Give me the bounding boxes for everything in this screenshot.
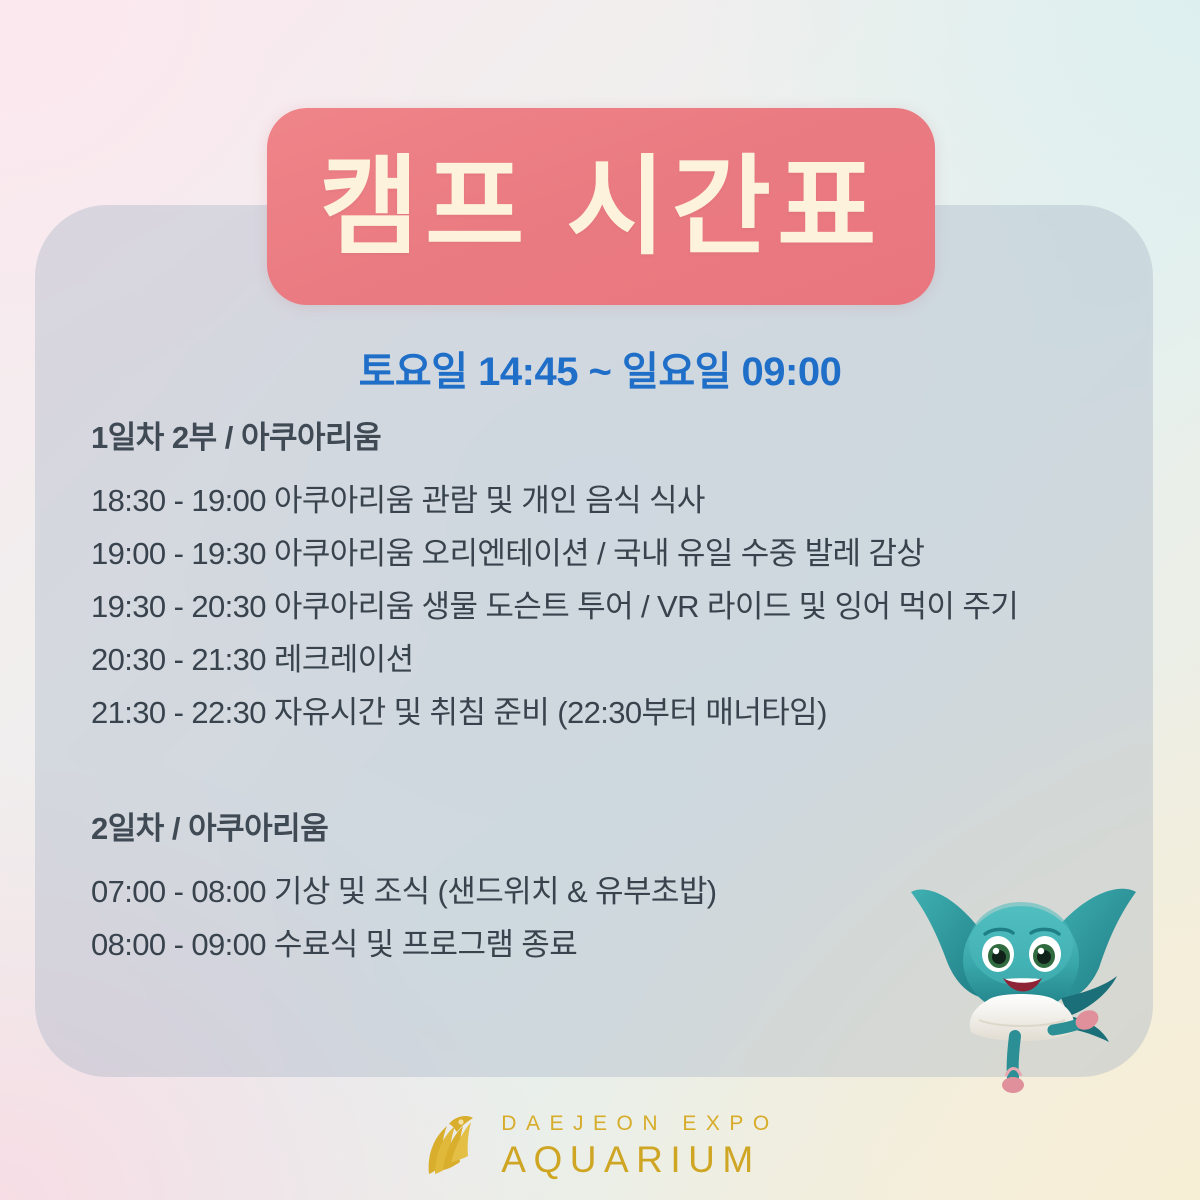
logo-wordmark: DAEJEON EXPO AQUARIUM (501, 1113, 778, 1178)
footer-logo: DAEJEON EXPO AQUARIUM (0, 1112, 1200, 1178)
schedule-time-range: 토요일 14:45 ~ 일요일 09:00 (0, 339, 1200, 397)
logo-line-aquarium: AQUARIUM (501, 1141, 760, 1178)
poster-canvas: 캠프 시간표 토요일 14:45 ~ 일요일 09:00 1일차 2부 / 아쿠… (0, 0, 1200, 1200)
stingray-ballerina-mascot-icon (893, 880, 1173, 1095)
schedule-row: 21:30 - 22:30 자유시간 및 취침 준비 (22:30부터 매너타임… (91, 686, 1151, 739)
page-title: 캠프 시간표 (320, 153, 883, 261)
schedule-row: 19:00 - 19:30 아쿠아리움 오리엔테이션 / 국내 유일 수중 발레… (91, 527, 1151, 580)
schedule-row: 18:30 - 19:00 아쿠아리움 관람 및 개인 음식 식사 (91, 474, 1151, 527)
schedule-row: 20:30 - 21:30 레크레이션 (91, 633, 1151, 686)
section-heading: 2일차 / 아쿠아리움 (91, 803, 1151, 848)
schedule-row: 19:30 - 20:30 아쿠아리움 생물 도슨트 투어 / VR 라이드 및… (91, 580, 1151, 633)
title-banner: 캠프 시간표 (267, 108, 935, 305)
stingray-logo-icon (421, 1112, 479, 1178)
section-heading: 1일차 2부 / 아쿠아리움 (91, 412, 1151, 457)
schedule-section-day1: 1일차 2부 / 아쿠아리움 18:30 - 19:00 아쿠아리움 관람 및 … (91, 412, 1151, 739)
logo-line-daejeon-expo: DAEJEON EXPO (501, 1113, 778, 1134)
